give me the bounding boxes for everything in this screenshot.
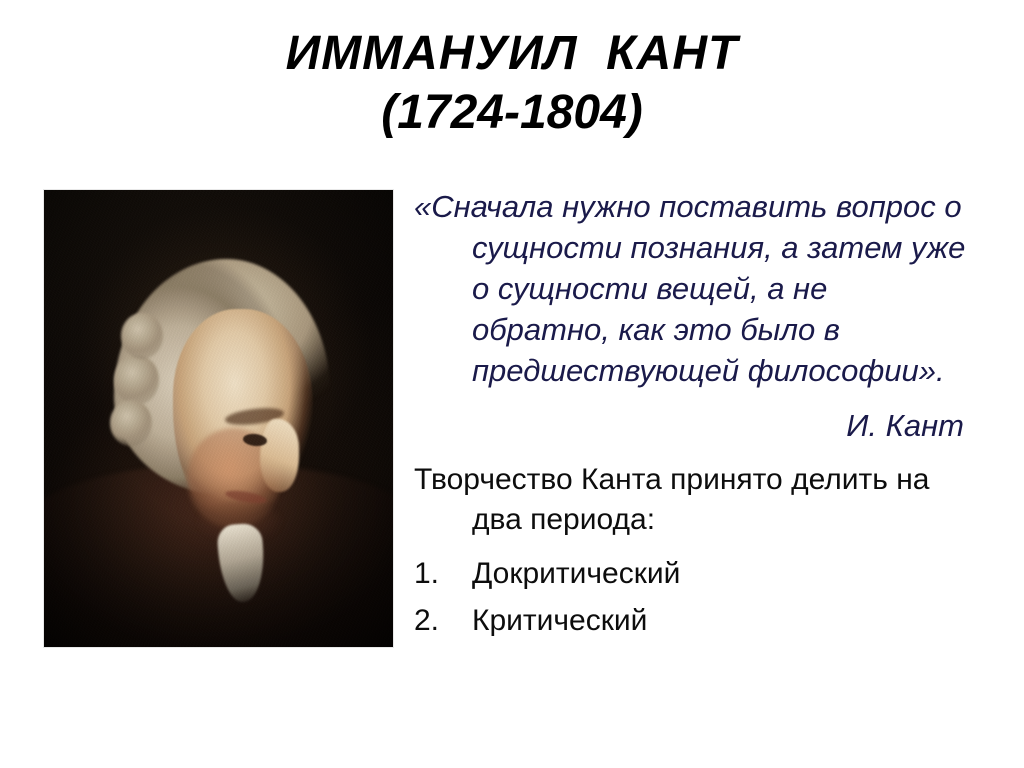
list-item: 1. Докритический [414,550,970,597]
portrait-canvas [44,190,393,647]
quote-attribution: И. Кант [414,405,970,446]
list-item-label: Критический [472,597,970,644]
presentation-slide: ИММАНУИЛ КАНТ (1724-1804) «Сначала нужно… [0,0,1024,768]
page-title: ИММАНУИЛ КАНТ [0,26,1024,83]
slide-title-block: ИММАНУИЛ КАНТ (1724-1804) [0,26,1024,141]
body-paragraph: Творчество Канта принято делить на два п… [414,460,970,540]
portrait-wig-curl [110,400,152,446]
kant-quote: «Сначала нужно поставить вопрос о сущнос… [414,186,970,391]
list-item-number: 1. [414,550,472,597]
portrait-nose [260,419,298,492]
list-item-number: 2. [414,597,472,644]
portrait-wig-curl [114,355,159,405]
portrait-image [44,190,393,647]
list-item: 2. Критический [414,597,970,644]
slide-content-column: «Сначала нужно поставить вопрос о сущнос… [414,186,970,644]
page-subtitle-years: (1724-1804) [0,83,1024,142]
list-item-label: Докритический [472,550,970,597]
portrait-wig-curl [121,313,163,359]
periods-list: 1. Докритический 2. Критический [414,550,970,644]
